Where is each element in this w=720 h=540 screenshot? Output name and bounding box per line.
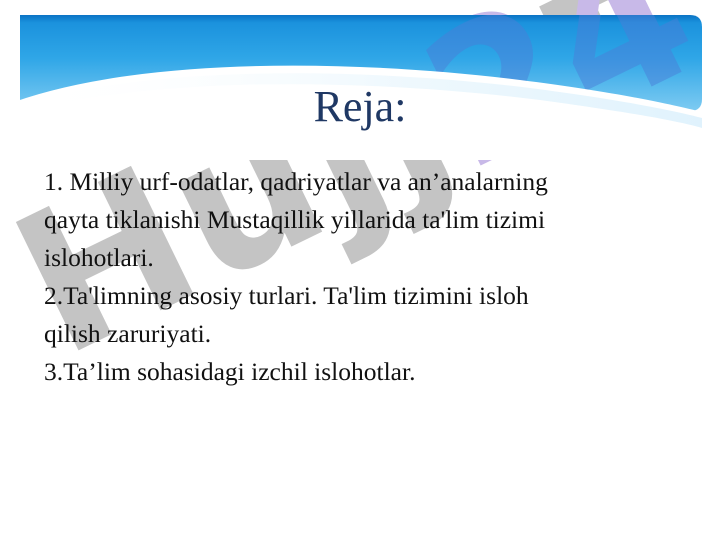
body-line: qayta tiklanishi Mustaqillik yillarida t… [44,201,700,239]
slide-body-text: 1. Milliy urf-odatlar, qadriyatlar va an… [44,163,700,391]
page-title: Reja: [0,84,720,130]
body-line: 1. Milliy urf-odatlar, qadriyatlar va an… [44,163,700,201]
slide-content: Reja: 1. Milliy urf-odatlar, qadriyatlar… [0,0,720,540]
body-line: 2.Ta'limning asosiy turlari. Ta'lim tizi… [44,277,700,315]
presentation-slide: Hujjat 24 [0,0,720,540]
body-line: qilish zaruriyati. [44,315,700,353]
body-line: 3.Ta’lim sohasidagi izchil islohotlar. [44,353,700,391]
body-line: islohotlari. [44,239,700,277]
